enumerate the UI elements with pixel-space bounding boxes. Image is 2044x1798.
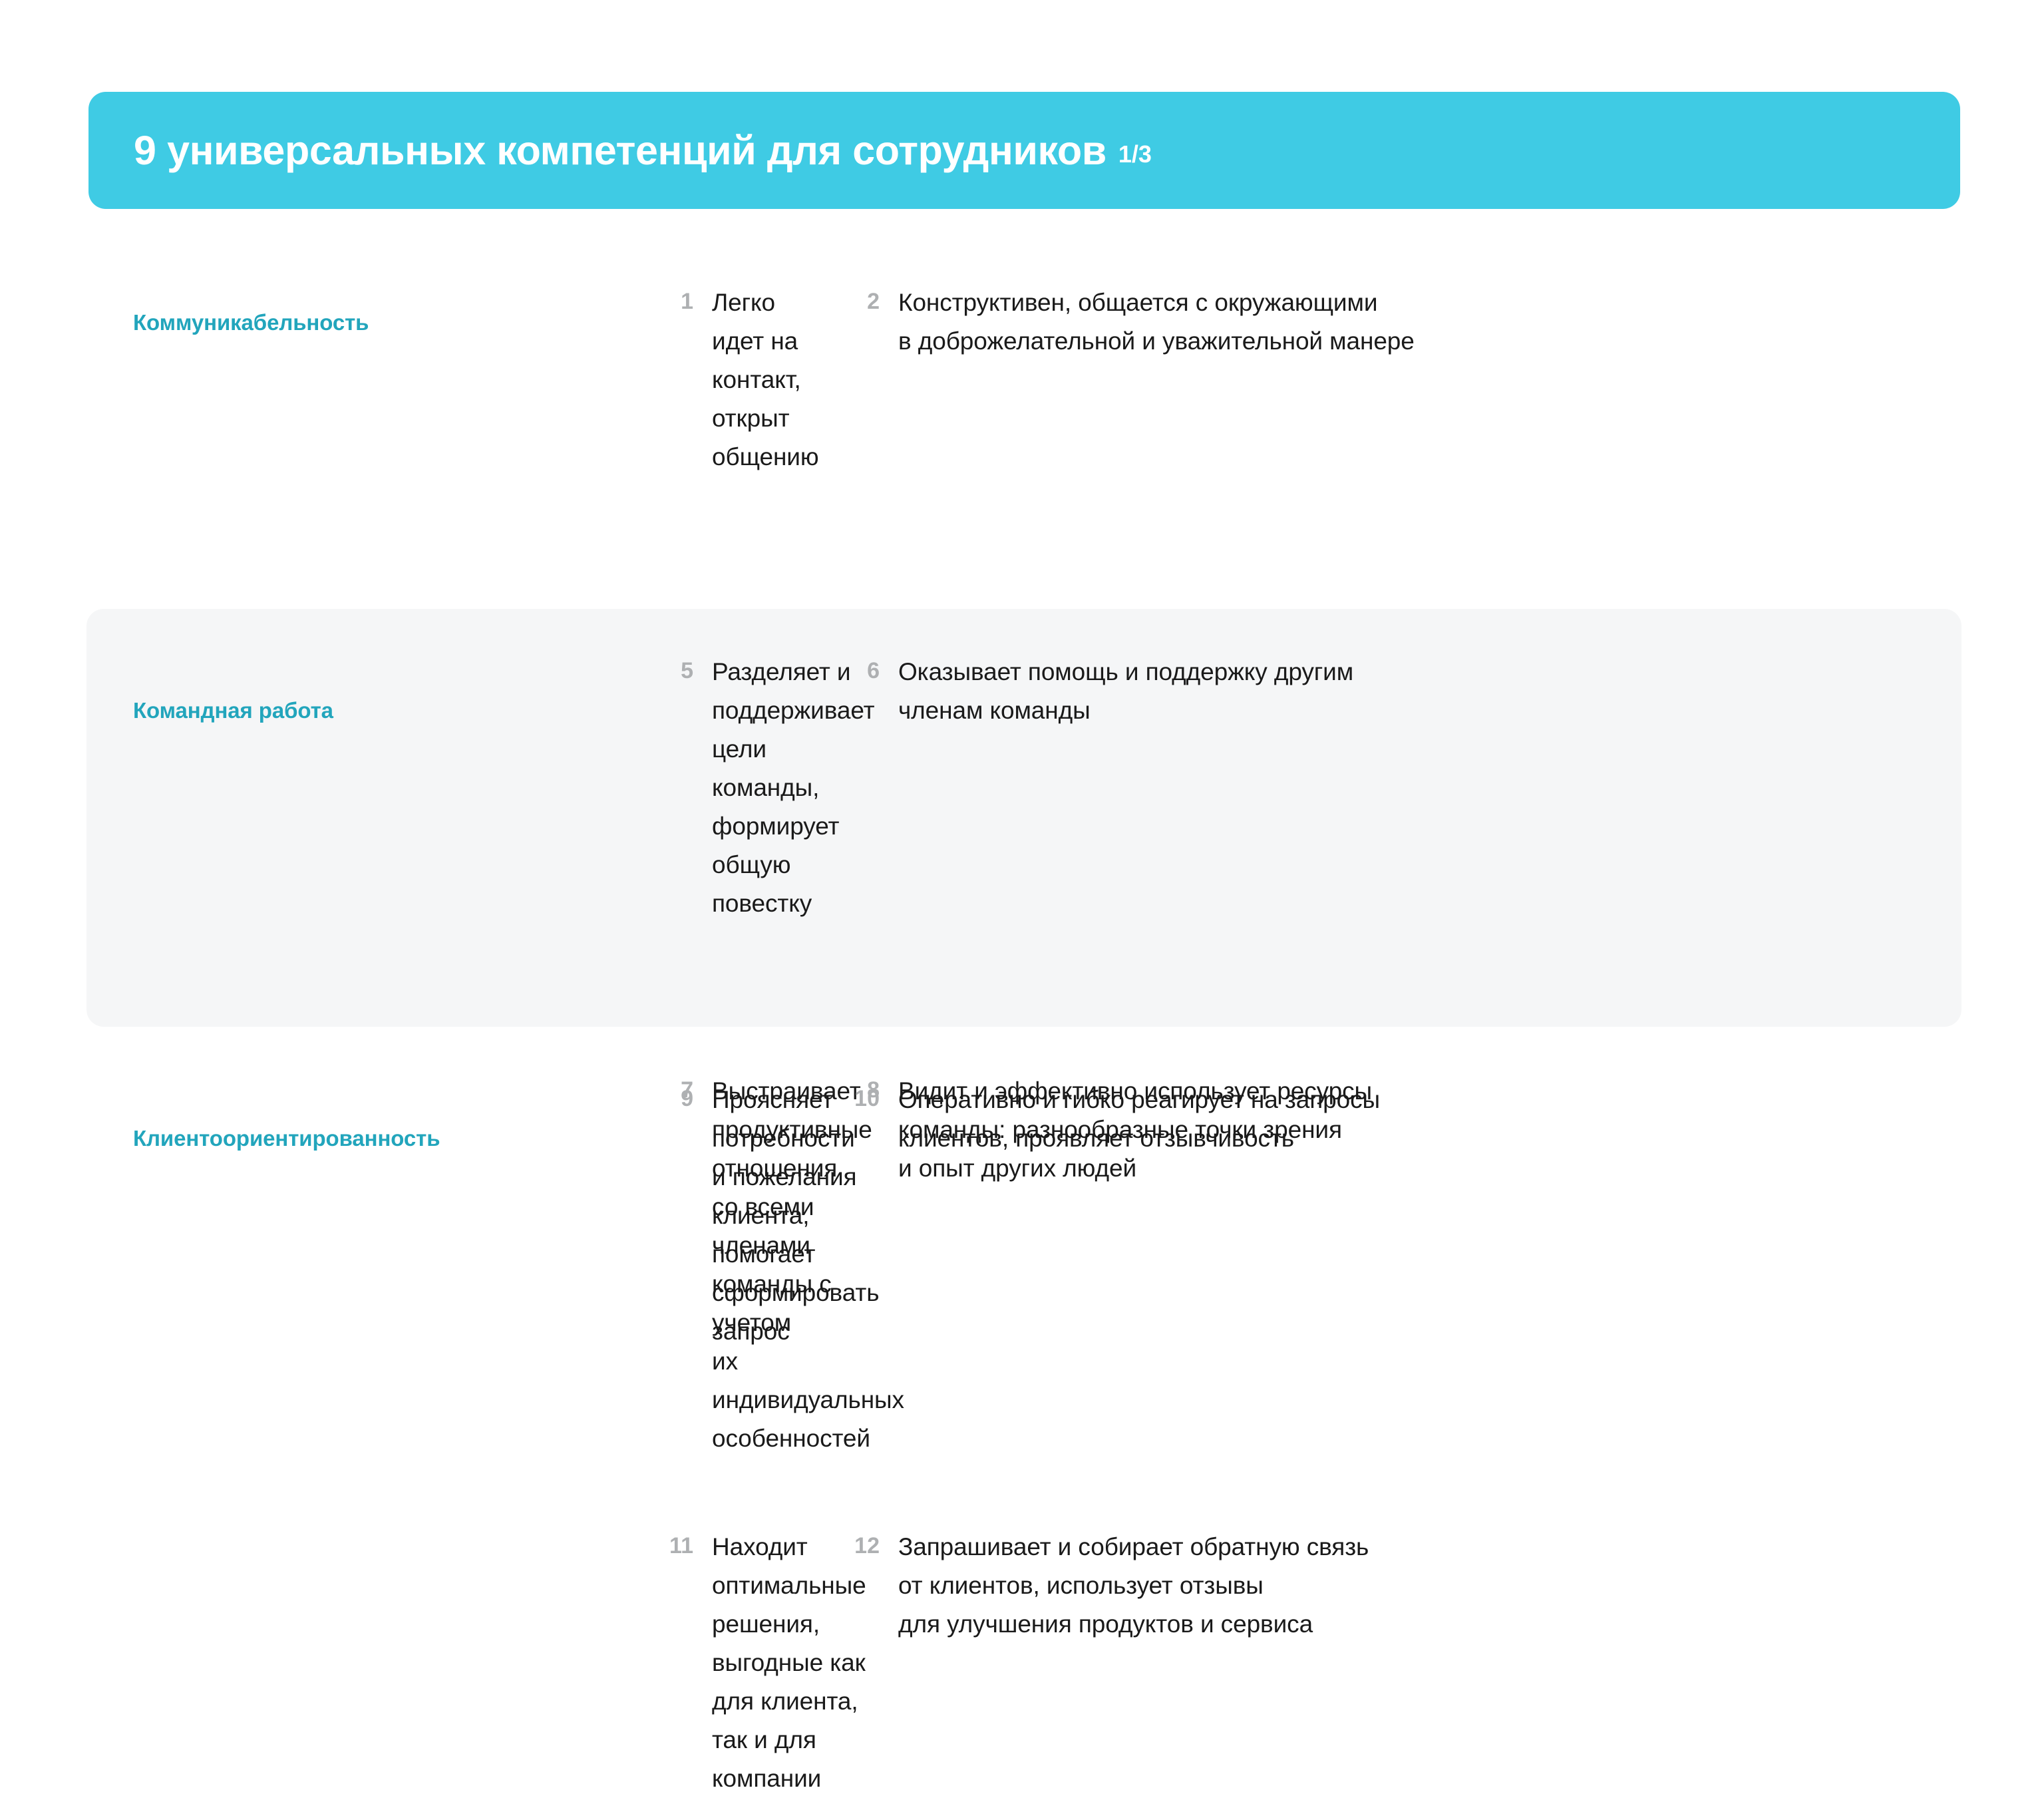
competency-item: 9Проясняет потребности и пожелания клиен… bbox=[133, 1081, 818, 1351]
competency-text: Легко идет на контакт, открыт общению bbox=[693, 283, 819, 476]
section-inner: Клиентоориентированность9Проясняет потре… bbox=[86, 1081, 1961, 1798]
competency-item: 2Конструктивен, общается с окружающими в… bbox=[818, 283, 1504, 476]
competency-text: Оказывает помощь и поддержку другим член… bbox=[880, 653, 1353, 730]
competency-number: 6 bbox=[838, 653, 880, 687]
page-title: 9 универсальных компетенций для сотрудни… bbox=[134, 130, 1107, 171]
competency-rows: 9Проясняет потребности и пожелания клиен… bbox=[133, 1081, 1961, 1798]
competency-row: 9Проясняет потребности и пожелания клиен… bbox=[133, 1081, 1961, 1351]
competency-number: 10 bbox=[838, 1081, 880, 1115]
page-counter: 1/3 bbox=[1118, 140, 1152, 168]
competency-number: 1 bbox=[652, 283, 693, 318]
competency-text: Оперативно и гибко реагирует на запросы … bbox=[880, 1081, 1380, 1158]
competency-item: 6Оказывает помощь и поддержку другим чле… bbox=[818, 653, 1504, 923]
competency-number: 9 bbox=[652, 1081, 693, 1115]
competency-item: 12Запрашивает и собирает обратную связь … bbox=[818, 1528, 1504, 1798]
competency-text: Конструктивен, общается с окружающими в … bbox=[880, 283, 1415, 361]
competency-row: 5Разделяет и поддерживает цели команды, … bbox=[133, 653, 1961, 923]
competency-item: 11Находит оптимальные решения, выгодные … bbox=[133, 1528, 818, 1798]
section-heading: Командная работа bbox=[133, 698, 333, 723]
competency-row: 1Легко идет на контакт, открыт общению2К… bbox=[133, 283, 1961, 476]
competency-section: Клиентоориентированность9Проясняет потре… bbox=[86, 1065, 1961, 1798]
competency-text: Запрашивает и собирает обратную связь от… bbox=[880, 1528, 1369, 1644]
competency-row: 11Находит оптимальные решения, выгодные … bbox=[133, 1528, 1961, 1798]
header-bar: 9 универсальных компетенций для сотрудни… bbox=[88, 92, 1960, 209]
competency-section: Командная работа5Разделяет и поддерживае… bbox=[86, 609, 1961, 1027]
competency-item: 10Оперативно и гибко реагирует на запрос… bbox=[818, 1081, 1504, 1351]
section-heading: Коммуникабельность bbox=[133, 310, 369, 335]
competency-item: 5Разделяет и поддерживает цели команды, … bbox=[133, 653, 818, 923]
competency-number: 5 bbox=[652, 653, 693, 687]
section-heading: Клиентоориентированность bbox=[133, 1126, 440, 1151]
slide-root: 9 универсальных компетенций для сотрудни… bbox=[0, 0, 2044, 1533]
competency-number: 2 bbox=[838, 283, 880, 318]
